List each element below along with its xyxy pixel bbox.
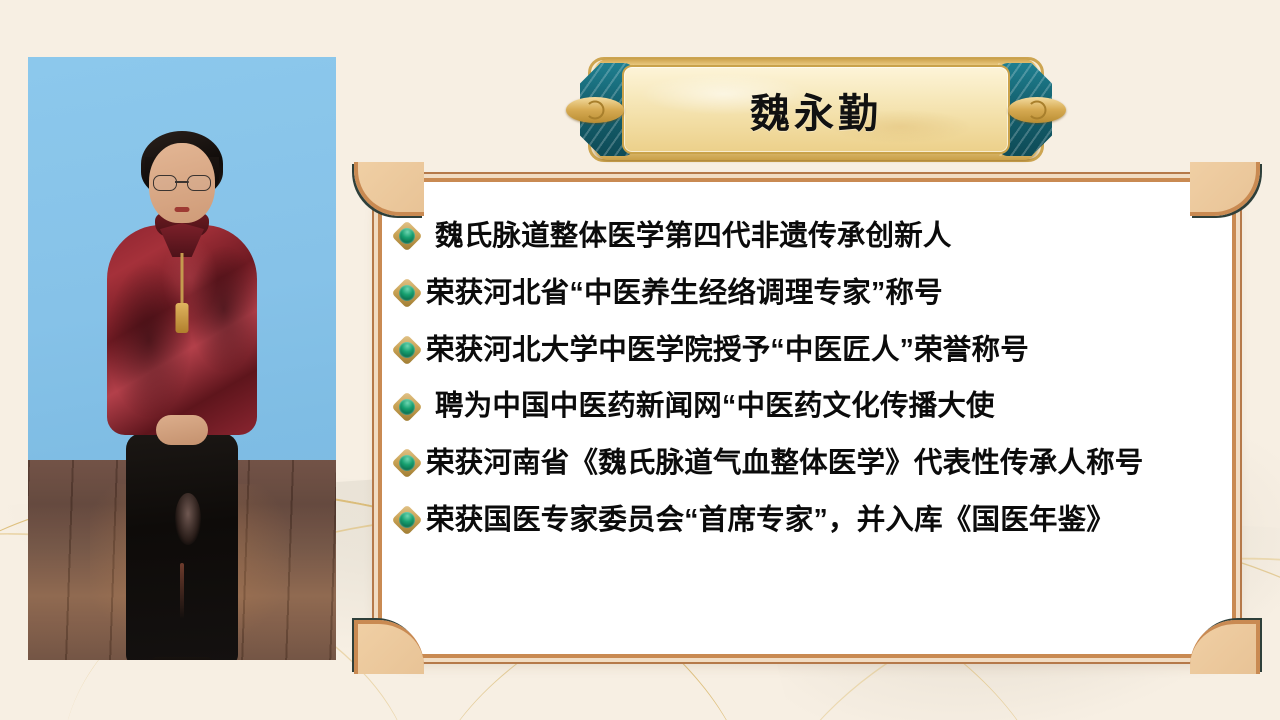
slide-root: 魏永勤 魏氏脉道整体医学第四代非遗传承创新人 荣获河北省“中医养生经络调理专家”… (0, 0, 1280, 720)
panel-corner-bottom-left (354, 620, 424, 674)
jade-gem-bullet-icon (391, 334, 422, 365)
panel-corner-bottom-right (1190, 620, 1260, 674)
figure-mouth (175, 207, 190, 212)
credentials-panel: 魏氏脉道整体医学第四代非遗传承创新人 荣获河北省“中医养生经络调理专家”称号 荣… (378, 178, 1236, 658)
list-item: 荣获河北大学中医学院授予“中医匠人”荣誉称号 (396, 334, 1222, 367)
list-item-label: 荣获河北省“中医养生经络调理专家”称号 (426, 277, 943, 310)
list-item: 荣获国医专家委员会“首席专家”，并入库《国医年鉴》 (396, 504, 1222, 537)
portrait-photo (28, 57, 336, 660)
jade-gem-bullet-icon (391, 221, 422, 252)
list-item: 聘为中国中医药新闻网“中医药文化传播大使 (396, 390, 1222, 423)
figure-shoes (151, 657, 213, 660)
page-title: 魏永勤 (566, 57, 1066, 162)
figure-trousers (126, 433, 238, 660)
list-item-label: 聘为中国中医药新闻网“中医药文化传播大使 (426, 390, 995, 423)
glasses-icon (153, 175, 211, 190)
panel-corner-top-left (354, 162, 424, 216)
list-item: 荣获河南省《魏氏脉道气血整体医学》代表性传承人称号 (396, 447, 1222, 480)
banner-scroll-cap-right-icon (1008, 97, 1066, 123)
jade-gem-bullet-icon (391, 448, 422, 479)
jade-gem-bullet-icon (391, 391, 422, 422)
list-item: 荣获河北省“中医养生经络调理专家”称号 (396, 277, 1222, 310)
jade-gem-bullet-icon (391, 278, 422, 309)
title-banner: 魏永勤 (566, 57, 1066, 162)
figure-necklace-cord (181, 253, 184, 305)
jade-gem-bullet-icon (391, 505, 422, 536)
list-item-label: 荣获河北大学中医学院授予“中医匠人”荣誉称号 (426, 334, 1029, 367)
credentials-list: 魏氏脉道整体医学第四代非遗传承创新人 荣获河北省“中医养生经络调理专家”称号 荣… (396, 220, 1222, 537)
list-item-label: 荣获河南省《魏氏脉道气血整体医学》代表性传承人称号 (426, 447, 1144, 480)
panel-corner-top-right (1190, 162, 1260, 216)
banner-scroll-cap-left-icon (566, 97, 624, 123)
figure-hands (156, 415, 208, 445)
list-item-label: 荣获国医专家委员会“首席专家”，并入库《国医年鉴》 (426, 504, 1115, 537)
figure-pendant (176, 303, 189, 333)
list-item-label: 魏氏脉道整体医学第四代非遗传承创新人 (426, 220, 952, 253)
list-item: 魏氏脉道整体医学第四代非遗传承创新人 (396, 220, 1222, 253)
